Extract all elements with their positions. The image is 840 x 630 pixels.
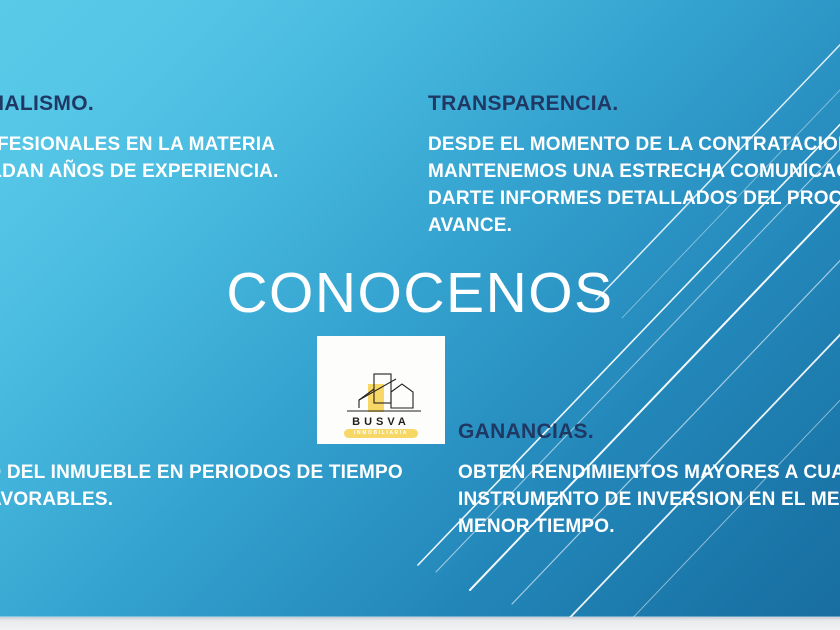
feature-heading-transparencia: TRANSPARENCIA.: [428, 92, 840, 116]
feature-body-plusvalia: INCREMENTO DEL INMUEBLE EN PERIODOS DE T…: [0, 460, 403, 514]
building-logo-icon: [333, 370, 429, 418]
feature-body-line: INSTRUMENTO DE INVERSION EN EL MERCADO E…: [458, 487, 840, 514]
feature-body-profesionalismo: SOMOS PROFESIONALES EN LA MATERIA QUE RE…: [0, 132, 279, 186]
feature-body-line: MENOR TIEMPO.: [458, 514, 840, 541]
feature-block-ganancias: GANANCIAS. OBTEN RENDIMIENTOS MAYORES A …: [458, 420, 840, 541]
feature-block-profesionalismo: PROFESIONALISMO. SOMOS PROFESIONALES EN …: [0, 92, 279, 186]
feature-body-line: OBTEN RENDIMIENTOS MAYORES A CUALQUIER: [458, 460, 840, 487]
feature-body-line: INCREMENTO DEL INMUEBLE EN PERIODOS DE T…: [0, 460, 403, 487]
feature-heading-profesionalismo: PROFESIONALISMO.: [0, 92, 279, 116]
feature-heading-ganancias: GANANCIAS.: [458, 420, 840, 444]
feature-body-line: DARTE INFORMES DETALLADOS DEL PROCESO Y …: [428, 186, 840, 213]
feature-body-transparencia: DESDE EL MOMENTO DE LA CONTRATACION MANT…: [428, 132, 840, 240]
feature-body-line: DESDE EL MOMENTO DE LA CONTRATACION: [428, 132, 840, 159]
feature-block-plusvalia: PLUSVALIA. INCREMENTO DEL INMUEBLE EN PE…: [0, 420, 403, 514]
slide-bottom-strip: [0, 617, 840, 630]
slide-title: CONOCENOS: [0, 265, 840, 322]
feature-body-ganancias: OBTEN RENDIMIENTOS MAYORES A CUALQUIER I…: [458, 460, 840, 541]
feature-body-line: CORTOS Y FAVORABLES.: [0, 487, 403, 514]
feature-block-transparencia: TRANSPARENCIA. DESDE EL MOMENTO DE LA CO…: [428, 92, 840, 240]
feature-heading-plusvalia: PLUSVALIA.: [0, 420, 403, 444]
feature-body-line: SOMOS PROFESIONALES EN LA MATERIA: [0, 132, 279, 159]
feature-body-line: AVANCE.: [428, 213, 840, 240]
presentation-slide: PROFESIONALISMO. SOMOS PROFESIONALES EN …: [0, 0, 840, 630]
feature-body-line: QUE RESPALDAN AÑOS DE EXPERIENCIA.: [0, 159, 279, 186]
feature-body-line: MANTENEMOS UNA ESTRECHA COMUNICACION AL: [428, 159, 840, 186]
